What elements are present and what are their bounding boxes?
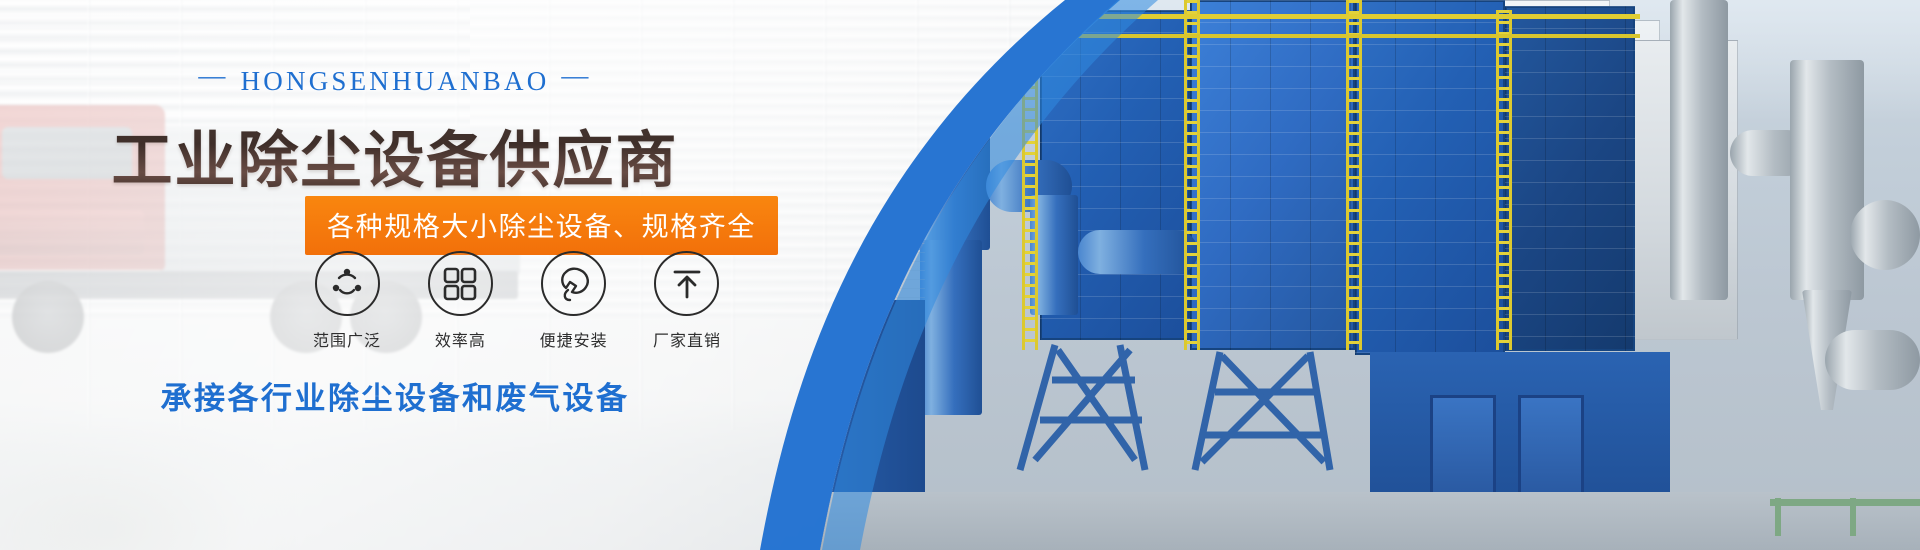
feature-item-wide-range[interactable]: 范围广泛 (302, 251, 392, 351)
feature-label: 厂家直销 (642, 327, 732, 351)
wrench-icon (541, 251, 606, 316)
feature-item-factory-direct[interactable]: 厂家直销 (642, 251, 732, 351)
dash-right-icon: — (561, 60, 591, 91)
hero-banner: —HONGSENHUANBAO— 工业除尘设备供应商 各种规格大小除尘设备、规格… (0, 0, 1920, 550)
brand-pinyin: —HONGSENHUANBAO— (0, 66, 790, 97)
grid-squares-icon (428, 251, 493, 316)
hero-content: —HONGSENHUANBAO— 工业除尘设备供应商 各种规格大小除尘设备、规格… (0, 0, 830, 550)
page-title: 工业除尘设备供应商 (0, 110, 790, 199)
share-nodes-icon (315, 251, 380, 316)
feature-label: 效率高 (415, 327, 505, 351)
feature-label: 范围广泛 (302, 327, 392, 351)
subtitle-text: 各种规格大小除尘设备、规格齐全 (327, 212, 756, 242)
feature-item-easy-install[interactable]: 便捷安装 (529, 251, 619, 351)
green-railing (1770, 499, 1920, 506)
subtitle-banner: 各种规格大小除尘设备、规格齐全 (305, 196, 778, 255)
green-railing-post (1850, 498, 1856, 536)
green-railing-post (1775, 498, 1781, 536)
arrow-up-bar-icon (654, 251, 719, 316)
feature-list: 范围广泛 效率高 (302, 251, 732, 351)
dash-left-icon: — (198, 60, 228, 91)
plant-ground (790, 492, 1920, 550)
feature-item-high-efficiency[interactable]: 效率高 (415, 251, 505, 351)
feature-label: 便捷安装 (529, 327, 619, 351)
hero-tagline: 承接各行业除尘设备和废气设备 (0, 373, 790, 418)
brand-pinyin-text: HONGSENHUANBAO (241, 66, 550, 96)
